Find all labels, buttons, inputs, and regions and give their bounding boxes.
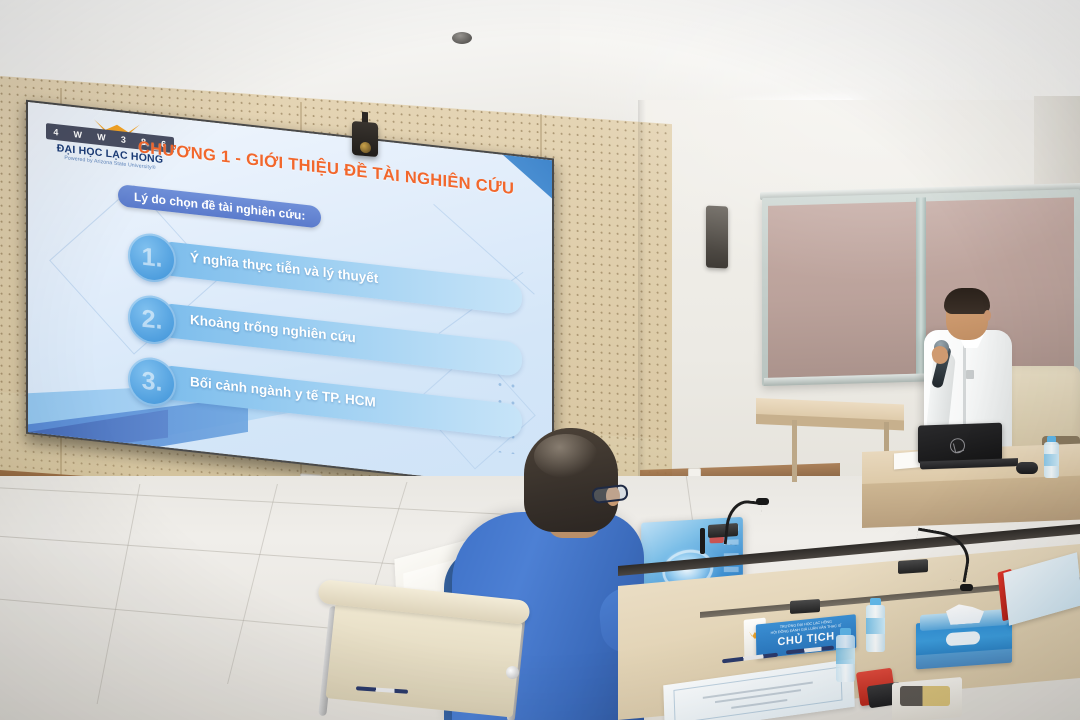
microphone-capsule: [960, 584, 973, 591]
camera-icon: [352, 121, 378, 157]
bullet-number: 3.: [128, 355, 176, 408]
tissue-box[interactable]: [916, 605, 1012, 670]
attendee-hair-highlight: [534, 434, 598, 478]
logo-code-char: 4: [53, 127, 59, 138]
water-bottle[interactable]: [866, 598, 885, 652]
projection-screen[interactable]: 4 W W 3 8 6 ĐẠI HỌC LẠC HỒNG Powered by …: [28, 102, 552, 490]
laptop-lid: [918, 423, 1002, 464]
whiteboard-pane-left[interactable]: [768, 202, 916, 378]
logo-code-char: W: [74, 129, 83, 140]
smoke-detector-icon: [452, 32, 472, 44]
logo-code-char: W: [97, 132, 106, 143]
conference-room-photo: 4 W W 3 8 6 ĐẠI HỌC LẠC HỒNG Powered by …: [0, 0, 1080, 720]
presenter-table-front: [862, 476, 1080, 528]
tray-contents: [900, 686, 950, 706]
water-bottle[interactable]: [836, 628, 854, 674]
bullet-number: 1.: [128, 231, 176, 284]
logo-code-char: 3: [121, 134, 127, 145]
microphone-stand: [700, 528, 705, 554]
conference-chair[interactable]: [318, 590, 530, 720]
sliding-whiteboard[interactable]: [762, 189, 1080, 386]
bottle-label: [836, 648, 855, 664]
wall-corner: [638, 100, 646, 520]
bottle-label: [866, 618, 885, 634]
microphone-capsule: [756, 498, 769, 505]
bullet-number: 2.: [128, 293, 176, 346]
water-bottle[interactable]: [1044, 436, 1059, 478]
wall-speaker: [706, 205, 728, 268]
chair-adjust-knob[interactable]: [506, 666, 519, 679]
bottle-label: [1044, 454, 1059, 466]
presenter-ear: [984, 310, 991, 321]
presenter-hair: [944, 288, 990, 314]
presenter-laptop[interactable]: [918, 422, 1010, 469]
mouse[interactable]: [1016, 462, 1038, 474]
table-leg: [792, 420, 797, 482]
shirt-pocket: [966, 370, 974, 379]
dell-logo-icon: [950, 438, 965, 454]
tissue-brand-logo: [946, 631, 980, 646]
